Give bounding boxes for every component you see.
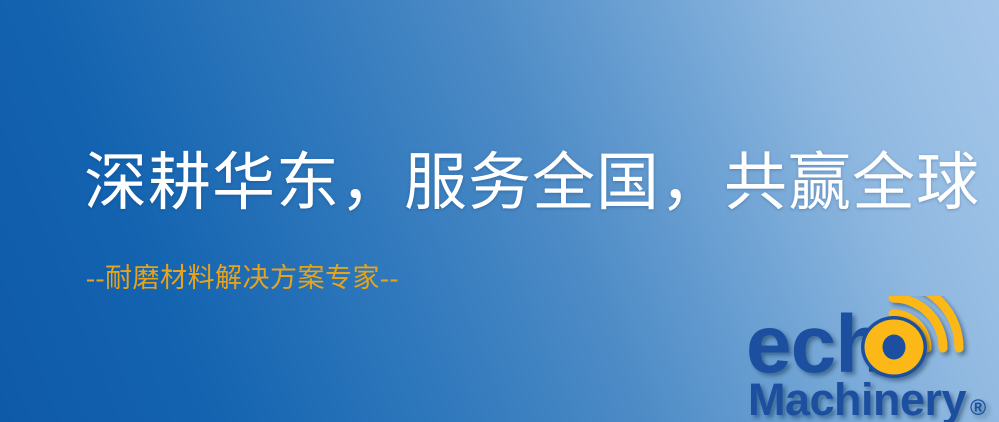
logo-wordmark-gold-o	[861, 316, 927, 378]
banner-subtitle: --耐磨材料解决方案专家--	[86, 265, 399, 292]
banner-headline: 深耕华东，服务全国，共赢全球	[84, 152, 980, 215]
logo-registered-mark: ®	[970, 395, 986, 420]
logo-tagline: Machinery	[748, 374, 967, 422]
promo-banner: 深耕华东，服务全国，共赢全球 --耐磨材料解决方案专家-- ech	[0, 0, 999, 422]
echo-machinery-logo: ech Machinery ®	[746, 296, 999, 422]
